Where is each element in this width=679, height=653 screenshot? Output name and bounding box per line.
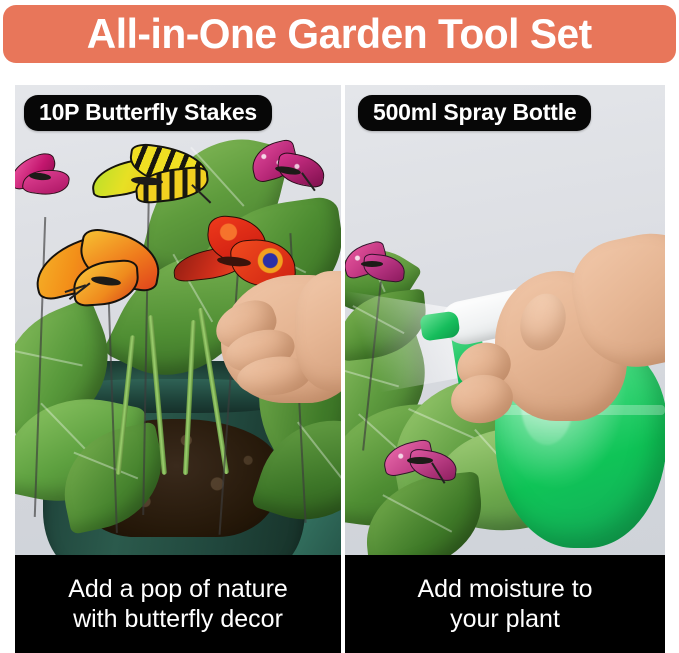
badge-right: 500ml Spray Bottle — [358, 95, 591, 131]
photo-spray-bottle: 500ml Spray Bottle — [345, 85, 665, 555]
butterfly-body — [407, 457, 433, 464]
caption-text: Add moisture to your plant — [409, 574, 600, 635]
badge-left: 10P Butterfly Stakes — [24, 95, 272, 131]
caption-line-2: your plant — [450, 605, 560, 633]
caption-line-2: with butterfly decor — [73, 605, 283, 633]
panel-butterfly-stakes[interactable]: 10P Butterfly Stakes Add a pop of nature… — [15, 85, 341, 653]
header-banner: All-in-One Garden Tool Set — [3, 5, 676, 63]
caption-right: Add moisture to your plant — [345, 555, 665, 653]
photo-butterfly-stakes: 10P Butterfly Stakes — [15, 85, 341, 555]
panel-spray-bottle[interactable]: 500ml Spray Bottle Add moisture to your … — [345, 85, 665, 653]
caption-left: Add a pop of nature with butterfly decor — [15, 555, 341, 653]
panel-row: 10P Butterfly Stakes Add a pop of nature… — [0, 85, 679, 653]
caption-text: Add a pop of nature with butterfly decor — [60, 574, 296, 635]
page-title: All-in-One Garden Tool Set — [87, 13, 592, 55]
caption-line-1: Add a pop of nature — [68, 575, 288, 603]
butterfly-body — [361, 261, 383, 267]
badge-label: 10P Butterfly Stakes — [39, 100, 257, 124]
caption-line-1: Add moisture to — [417, 575, 592, 603]
badge-label: 500ml Spray Bottle — [373, 100, 576, 124]
